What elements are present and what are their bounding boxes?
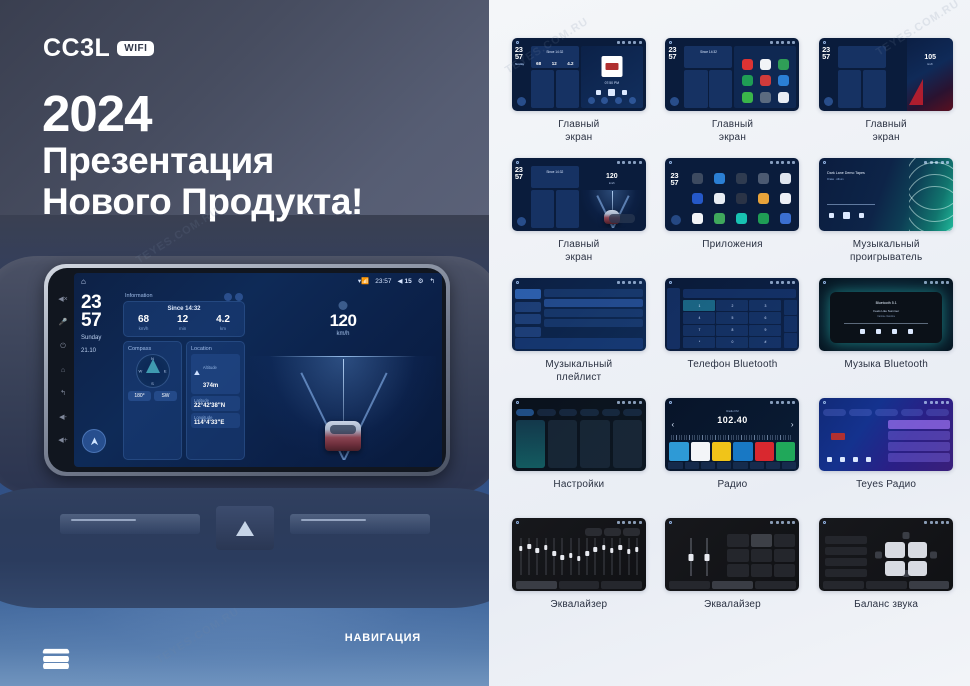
- track-artist: Drake · Album: [827, 178, 843, 181]
- trip-stat-unit: km: [216, 326, 230, 331]
- caption-line1: Главный: [712, 119, 753, 132]
- app-icon-keyboard[interactable]: [736, 173, 747, 184]
- dial-key[interactable]: 6: [749, 312, 781, 323]
- information-widget[interactable]: Information Since 14:32: [123, 292, 245, 337]
- gallery-caption: Приложения: [702, 239, 763, 252]
- gallery-caption: Главный экран: [558, 119, 599, 144]
- home-screen: 23 57 Sunday 21.10 Information: [74, 289, 442, 467]
- next-station-icon[interactable]: ›: [791, 420, 794, 429]
- next-icon[interactable]: [908, 329, 913, 334]
- app-icon-contacts[interactable]: [714, 193, 725, 204]
- dial-keypad[interactable]: 1 2 3 4 5 6 7 8 9 * 0 #: [683, 300, 781, 348]
- mic-icon[interactable]: 🎤: [59, 319, 68, 326]
- eq-vertical-sliders[interactable]: [679, 538, 719, 576]
- bt-card: Bluetooth 5.1 Feels Like Summer Carlose …: [830, 292, 942, 343]
- presentation-slide: CC3L WIFI 2024 Презентация Нового Продук…: [0, 0, 970, 686]
- caption-line2: экран: [712, 132, 753, 145]
- thumbnail-playlist[interactable]: [512, 278, 646, 351]
- gear-icon[interactable]: ⚙: [418, 277, 424, 285]
- gallery-item[interactable]: Музыкальный плейлист: [509, 278, 649, 398]
- dial-key[interactable]: #: [749, 337, 781, 348]
- hazard-button[interactable]: [216, 506, 274, 550]
- preset-3[interactable]: [712, 442, 731, 461]
- thumbnail-home-speed105[interactable]: 23 57 105 km/h: [819, 38, 953, 111]
- thumb-status-bar: [512, 278, 646, 286]
- eq-preset-grid[interactable]: [727, 534, 795, 577]
- volume-up-icon[interactable]: ◀+: [58, 437, 67, 444]
- left-button[interactable]: [875, 551, 882, 558]
- location-label: Location: [191, 346, 240, 352]
- thumb-since: Since 14:32: [531, 166, 579, 174]
- home-icon[interactable]: ⌂: [81, 277, 86, 286]
- gallery-caption: Эквалайзер: [704, 599, 761, 612]
- preset-5[interactable]: [755, 442, 774, 461]
- logo-text: CC3L: [43, 34, 110, 63]
- gallery-caption: Музыкальный проигрыватель: [850, 239, 922, 264]
- thumb-speed-value: 120: [581, 173, 643, 180]
- compass-label: Compass: [128, 346, 177, 352]
- tab-display[interactable]: [559, 409, 578, 416]
- thumb-info-card: [838, 46, 886, 68]
- compass-dial: N E S W: [136, 354, 170, 388]
- gallery-item[interactable]: 23 57 Since 14:32: [663, 38, 803, 158]
- playlist-items[interactable]: [544, 289, 643, 337]
- gallery-caption: Teyes Радио: [856, 479, 916, 492]
- progress-bar[interactable]: [827, 204, 875, 205]
- longitude-value: 114°4'33"E: [194, 420, 237, 426]
- app-icon-gallery[interactable]: [780, 193, 791, 204]
- thumb-location-card: [556, 70, 579, 109]
- tab-system[interactable]: [602, 409, 621, 416]
- driving-widget[interactable]: 120 km/h: [250, 292, 436, 460]
- thumb-compass-card: [531, 70, 554, 109]
- thumb-status-bar: [665, 398, 799, 406]
- settings-tabs[interactable]: [516, 409, 642, 416]
- trip-stat: 12 min: [177, 315, 188, 331]
- carplay-card[interactable]: [548, 420, 577, 468]
- thumbnail-sound-balance[interactable]: [819, 518, 953, 591]
- head-unit-frame: ◀× 🎤 ⏻ ⌂ ↰ ◀- ◀+ ⌂ ▾📶 23:57: [48, 268, 446, 472]
- album-art-icon: [601, 56, 622, 77]
- widget-column: Information Since 14:32: [123, 292, 245, 460]
- refresh-icon[interactable]: [224, 293, 232, 301]
- tab-eq: [669, 581, 710, 589]
- tab-wifi[interactable]: [516, 409, 535, 416]
- tab-eq: [823, 581, 864, 589]
- call-icon: [784, 333, 797, 348]
- thumb-status-bar: [819, 518, 953, 526]
- logo-wifi-badge: WIFI: [117, 41, 154, 56]
- compass-e: E: [164, 369, 167, 374]
- gallery-caption: Телефон Bluetooth: [688, 359, 778, 372]
- favorite-icon: [866, 457, 871, 462]
- speed-limit-icon: [339, 301, 348, 310]
- caption-line1: Музыкальный: [850, 239, 922, 252]
- empty-card: [613, 420, 642, 468]
- stop-icon: [608, 89, 615, 96]
- compass-heading: 180°: [128, 391, 151, 401]
- thumb-status-bar: [819, 278, 953, 286]
- volume-indicator[interactable]: ◀15: [397, 277, 411, 285]
- thumbnail-teyes-radio[interactable]: [819, 398, 953, 471]
- information-label: Information: [123, 292, 153, 301]
- teyes-nowplaying: [823, 420, 885, 468]
- tab-sound-field: [712, 581, 753, 589]
- gallery-caption: Настройки: [553, 479, 604, 492]
- gallery-item[interactable]: 1 2 3 4 5 6 7 8 9 * 0 #: [663, 278, 803, 398]
- thumbnail-radio[interactable]: Radio FM ‹ 102.40 ›: [665, 398, 799, 471]
- preset-1[interactable]: [669, 442, 688, 461]
- clock-minutes: 57: [81, 312, 118, 330]
- volume-down-icon[interactable]: ◀-: [59, 414, 67, 421]
- trip-stats: 68 km/h 12 min: [124, 315, 244, 336]
- gallery-item[interactable]: Баланс звука: [816, 518, 956, 638]
- caption-line1: Эквалайзер: [704, 599, 761, 612]
- thumb-clock-minutes: 57: [515, 52, 523, 61]
- compass-widget[interactable]: Compass N E S W: [123, 341, 182, 460]
- gallery-caption: Главный экран: [712, 119, 753, 144]
- bt-track: Feels Like Summer: [830, 309, 942, 313]
- app-icon-avi[interactable]: [692, 173, 703, 184]
- hazard-triangle-icon: [236, 521, 254, 536]
- app-icon-chrome[interactable]: [692, 193, 703, 204]
- horizon-line: [269, 356, 418, 357]
- trip-stat-unit: min: [177, 326, 188, 331]
- thumb-stat: 4.2: [567, 61, 573, 66]
- seat-diagram: [885, 542, 927, 576]
- thumbnail-settings[interactable]: [512, 398, 646, 471]
- gallery-item[interactable]: Настройки: [509, 398, 649, 518]
- teyes-controls[interactable]: [827, 457, 871, 462]
- eq-band-sliders[interactable]: [518, 538, 640, 575]
- screens-gallery: 23 57 Sunday Since 14:32 68 12 4.2: [489, 0, 970, 686]
- app-icon-playstore[interactable]: [758, 213, 769, 224]
- thumbnail-home-apps[interactable]: 23 57 Since 14:32: [665, 38, 799, 111]
- app-icon-bluetooth[interactable]: [714, 173, 725, 184]
- next-icon[interactable]: [859, 213, 864, 218]
- thumb-since: Since 14:32: [531, 46, 579, 54]
- red-wedge-graphic: [909, 79, 923, 105]
- thumb-status-bar: [512, 398, 646, 406]
- center-console: [0, 488, 489, 608]
- phone-sidebar[interactable]: [667, 288, 680, 349]
- trip-stat-value: 12: [177, 315, 188, 325]
- tab-sound[interactable]: [537, 409, 556, 416]
- compass-s: S: [151, 381, 154, 386]
- next-icon: [853, 457, 858, 462]
- hero-year: 2024: [42, 88, 363, 140]
- compass-n: N: [151, 356, 154, 361]
- air-vent-left: [60, 514, 200, 534]
- gallery-item[interactable]: Bluetooth 5.1 Feels Like Summer Carlose …: [816, 278, 956, 398]
- preset-6[interactable]: [776, 442, 795, 461]
- thumbnail-equalizer-sliders[interactable]: [665, 518, 799, 591]
- expand-icon[interactable]: [235, 293, 243, 301]
- trip-stat-unit: km/h: [138, 326, 149, 331]
- hero-headline-line2: Нового Продукта!: [42, 181, 363, 222]
- bt-version: Bluetooth 5.1: [830, 301, 942, 305]
- thumbnail-home-speed120[interactable]: 23 57 Since 14:32 120: [512, 158, 646, 231]
- bt-controls[interactable]: [830, 329, 942, 334]
- trip-stat: 4.2 km: [216, 315, 230, 331]
- car-graphic: [325, 421, 361, 451]
- radio-toolbar[interactable]: [668, 462, 796, 469]
- caption-line1: Телефон Bluetooth: [688, 359, 778, 372]
- information-actions[interactable]: [224, 293, 243, 301]
- home-icon[interactable]: ⌂: [61, 367, 65, 374]
- caption-line1: Teyes Радио: [856, 479, 916, 492]
- caption-line1: Радио: [718, 479, 748, 492]
- playlist-nowplaying[interactable]: [515, 338, 643, 349]
- compass-needle: [146, 359, 160, 373]
- back-arrow-icon[interactable]: ↰: [430, 277, 435, 285]
- gallery-item[interactable]: 23 57 Since 14:32 120: [509, 158, 649, 278]
- dial-key[interactable]: 7: [683, 325, 715, 336]
- pause-icon[interactable]: [843, 212, 850, 219]
- station-presets[interactable]: [669, 442, 795, 461]
- dial-key[interactable]: 9: [749, 325, 781, 336]
- thumb-clock: 23 57: [670, 172, 684, 186]
- gallery-caption: Главный экран: [866, 119, 907, 144]
- location-altitude-row: ⛰ Altitude 374m: [191, 354, 240, 394]
- status-clock: 23:57: [375, 278, 391, 285]
- preset-2[interactable]: [691, 442, 710, 461]
- prev-icon[interactable]: [829, 213, 834, 218]
- mute-icon[interactable]: ◀×: [58, 296, 67, 303]
- location-longitude-row: Longitude 114°4'33"E: [191, 413, 240, 428]
- other-card[interactable]: [580, 420, 609, 468]
- hero-headline-line1: Презентация: [42, 140, 363, 181]
- teyes-list[interactable]: [888, 420, 950, 468]
- head-unit-screen[interactable]: ⌂ ▾📶 23:57 ◀15 ⚙ ↰ 23 57: [74, 273, 442, 467]
- thumb-nav-button: [517, 97, 526, 106]
- bt-artist: Carlose Vasoline: [830, 315, 942, 318]
- thumb-info-card: Since 14:32 68 12 4.2: [531, 46, 579, 68]
- gallery-item[interactable]: Эквалайзер: [663, 518, 803, 638]
- clock-day: Sunday: [81, 335, 118, 343]
- trip-stat-value: 4.2: [216, 315, 230, 325]
- track-title: Dark Lane Demo Tapes: [827, 171, 865, 175]
- location-widget[interactable]: Location ⛰ Altitude 374m: [186, 341, 245, 460]
- thumb-info-card: Since 14:32: [531, 166, 579, 188]
- gallery-item[interactable]: 23 57: [663, 158, 803, 278]
- thumb-status-bar: [665, 518, 799, 526]
- gallery-caption: Баланс звука: [854, 599, 918, 612]
- thumb-driving-panel: 120 km/h: [581, 166, 643, 228]
- location-latitude-row: Latitude 22°42'38"N: [191, 396, 240, 411]
- air-vent-right: [290, 514, 430, 534]
- caption-line2: плейлист: [545, 372, 612, 385]
- caption-line1: Эквалайзер: [550, 599, 607, 612]
- frequency-scale[interactable]: [671, 435, 793, 440]
- thumb-clock-minutes: 57: [822, 52, 830, 61]
- dial-key[interactable]: 1: [683, 300, 715, 311]
- stop-icon: [840, 457, 845, 462]
- gallery-caption: Главный экран: [558, 239, 599, 264]
- radio-band: Radio FM: [665, 409, 799, 413]
- gallery-item[interactable]: Эквалайзер: [509, 518, 649, 638]
- navigation-arrow-icon[interactable]: [82, 429, 106, 453]
- balance-presets[interactable]: [825, 536, 867, 580]
- head-unit-side-buttons[interactable]: ◀× 🎤 ⏻ ⌂ ↰ ◀- ◀+: [52, 273, 74, 467]
- app-icon-calculator[interactable]: [758, 173, 769, 184]
- power-icon[interactable]: ⏻: [60, 343, 66, 350]
- teyes-tabs[interactable]: [823, 409, 949, 416]
- altitude-key: Altitude: [203, 365, 217, 370]
- play-pause-icon[interactable]: [876, 329, 881, 334]
- radio-frequency: 102.40: [665, 415, 799, 425]
- thumbnail-bt-music[interactable]: Bluetooth 5.1 Feels Like Summer Carlose …: [819, 278, 953, 351]
- status-bar: ⌂ ▾📶 23:57 ◀15 ⚙ ↰: [74, 273, 442, 289]
- navigation-label: НАВИГАЦИЯ: [345, 632, 421, 644]
- lower-widgets: Compass N E S W: [123, 341, 245, 460]
- thumb-speed-unit: km/h: [907, 63, 953, 66]
- dial-key[interactable]: 3: [749, 300, 781, 311]
- prev-icon: [827, 457, 832, 462]
- app-icon-musicplayer[interactable]: [736, 213, 747, 224]
- compass-w: W: [139, 369, 143, 374]
- app-icon-radio[interactable]: [780, 213, 791, 224]
- gallery-item[interactable]: 23 57 105 km/h: [816, 38, 956, 158]
- thumbnail-bt-phone[interactable]: 1 2 3 4 5 6 7 8 9 * 0 #: [665, 278, 799, 351]
- caption-line2: проигрыватель: [850, 252, 922, 265]
- tab-fader: [601, 581, 642, 589]
- gallery-caption: Музыкальный плейлист: [545, 359, 612, 384]
- player-controls[interactable]: [829, 212, 864, 219]
- thumb-stat: 12: [552, 61, 557, 66]
- gallery-item[interactable]: Teyes Радио: [816, 398, 956, 518]
- speed-unit: km/h: [250, 331, 436, 337]
- eq-tabs[interactable]: [823, 581, 949, 589]
- tab-eq: [516, 581, 557, 589]
- volume-value: 15: [404, 278, 411, 285]
- dial-key[interactable]: 2: [716, 300, 748, 311]
- caption-line2: экран: [558, 132, 599, 145]
- wifi-icon[interactable]: ▾📶: [358, 277, 369, 285]
- head-unit-bezel: ◀× 🎤 ⏻ ⌂ ↰ ◀- ◀+ ⌂ ▾📶 23:57: [44, 264, 450, 476]
- thumb-status-bar: [819, 398, 953, 406]
- car-dashboard: ◀× 🎤 ⏻ ⌂ ↰ ◀- ◀+ ⌂ ▾📶 23:57: [0, 250, 489, 686]
- caption-line1: Главный: [866, 119, 907, 132]
- gallery-item[interactable]: 23 57 Sunday Since 14:32 68 12 4.2: [509, 38, 649, 158]
- tab-fader: [909, 581, 950, 589]
- gallery-caption: Музыка Bluetooth: [844, 359, 928, 372]
- thumb-status-bar: [512, 158, 646, 166]
- backspace-icon: [784, 316, 797, 331]
- app-grid[interactable]: [687, 169, 795, 228]
- caption-line1: Главный: [558, 119, 599, 132]
- front-button[interactable]: [903, 532, 910, 539]
- tab-sound-field: [559, 581, 600, 589]
- app-icon-dvr[interactable]: [736, 193, 747, 204]
- eq-presets[interactable]: [585, 528, 640, 536]
- balance-pad[interactable]: [875, 532, 937, 577]
- caption-line2: экран: [558, 252, 599, 265]
- thumb-appgrid-panel: [734, 46, 796, 108]
- dial-key[interactable]: 0: [716, 337, 748, 348]
- phone-number-input[interactable]: [683, 289, 796, 298]
- latitude-value: 22°42'38"N: [194, 403, 237, 409]
- wifi-card[interactable]: [516, 420, 545, 468]
- back-arrow-icon[interactable]: [671, 215, 681, 225]
- product-logo: CC3L WIFI: [43, 34, 154, 63]
- eq-tabs[interactable]: [516, 581, 642, 589]
- hero-heading: 2024 Презентация Нового Продукта!: [42, 88, 363, 223]
- caption-line1: Главный: [558, 239, 599, 252]
- thumb-info-card: Since 14:32: [684, 46, 732, 68]
- hero-panel: CC3L WIFI 2024 Презентация Нового Продук…: [0, 0, 489, 686]
- thumbnail-home-music[interactable]: 23 57 Sunday Since 14:32 68 12 4.2: [512, 38, 646, 111]
- thumbnail-apps[interactable]: 23 57: [665, 158, 799, 231]
- dial-key[interactable]: 8: [716, 325, 748, 336]
- trip-card: Since 14:32 68 km/h 12: [123, 301, 245, 337]
- thumb-clock-minutes: 57: [670, 178, 678, 187]
- thumbnail-equalizer-bars[interactable]: [512, 518, 646, 591]
- bt-progress[interactable]: [844, 323, 928, 324]
- gallery-item[interactable]: Dark Lane Demo Tapes Drake · Album Музык…: [816, 158, 956, 278]
- thumb-status-bar: [665, 38, 799, 46]
- altitude-value: 374m: [203, 383, 218, 389]
- app-icon-filemanager[interactable]: [758, 193, 769, 204]
- phone-actions[interactable]: [784, 300, 797, 348]
- trip-stat-value: 68: [138, 315, 149, 325]
- thumb-stat: 68: [536, 61, 541, 66]
- tab-about[interactable]: [623, 409, 642, 416]
- thumb-music-panel: 07:50 PM: [581, 46, 643, 108]
- thumb-clock-minutes: 57: [668, 52, 676, 61]
- thumb-status-bar: [512, 518, 646, 526]
- thumb-clock-minutes: 57: [515, 172, 523, 181]
- eq-tabs[interactable]: [669, 581, 795, 589]
- thumb-status-bar: [665, 158, 799, 166]
- gallery-item[interactable]: Radio FM ‹ 102.40 ›: [663, 398, 803, 518]
- thumb-clock-day: Sunday: [515, 63, 529, 67]
- caption-line1: Музыкальный: [545, 359, 612, 372]
- information-header: Information: [123, 292, 245, 301]
- prev-icon[interactable]: [860, 329, 865, 334]
- tab-apps[interactable]: [580, 409, 599, 416]
- back-arrow-icon[interactable]: ↰: [60, 390, 66, 397]
- thumb-status-bar: [512, 38, 646, 46]
- favorite-icon: [784, 300, 797, 315]
- preset-4[interactable]: [733, 442, 752, 461]
- tab-fader: [755, 581, 796, 589]
- dial-key[interactable]: 4: [683, 312, 715, 323]
- trip-stat: 68 km/h: [138, 315, 149, 331]
- tab-sound-field: [866, 581, 907, 589]
- stop-icon[interactable]: [892, 329, 897, 334]
- gallery-caption: Радио: [718, 479, 748, 492]
- waveform-graphic: [909, 158, 953, 231]
- next-icon: [622, 90, 627, 95]
- caption-line1: Баланс звука: [854, 599, 918, 612]
- dial-key[interactable]: 5: [716, 312, 748, 323]
- caption-line2: экран: [866, 132, 907, 145]
- right-button[interactable]: [930, 551, 937, 558]
- app-icon-google[interactable]: [692, 213, 703, 224]
- dial-key[interactable]: *: [683, 337, 715, 348]
- settings-cards[interactable]: [516, 420, 642, 468]
- screens-grid: 23 57 Sunday Since 14:32 68 12 4.2: [509, 38, 956, 638]
- thumb-speed-value: 105: [907, 54, 953, 61]
- app-icon-maps[interactable]: [714, 213, 725, 224]
- compass-values: 180° SW: [128, 391, 177, 401]
- thumb-status-bar: [665, 278, 799, 286]
- thumb-speed-unit: km/h: [581, 182, 643, 185]
- app-icon-camera[interactable]: [780, 173, 791, 184]
- gallery-caption: Эквалайзер: [550, 599, 607, 612]
- thumbnail-music-player[interactable]: Dark Lane Demo Tapes Drake · Album: [819, 158, 953, 231]
